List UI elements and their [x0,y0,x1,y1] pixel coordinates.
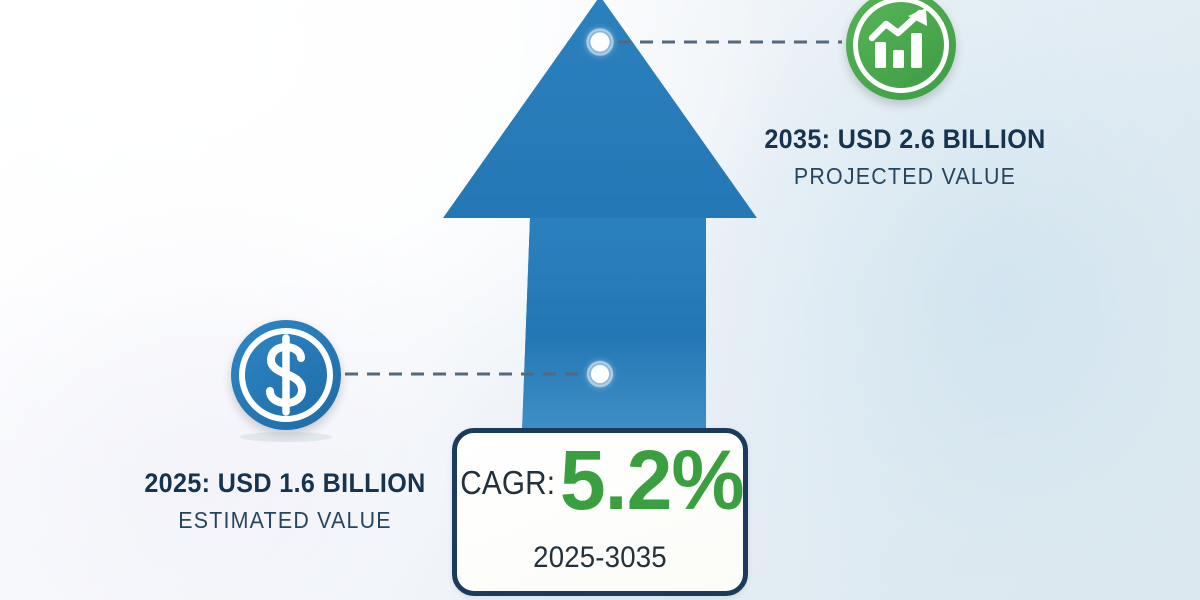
bottom-node-dot [588,362,612,386]
cagr-label: CAGR: [460,464,555,502]
cagr-row: CAGR: 5.2% [457,441,743,521]
projected-value-subtitle: PROJECTED VALUE [663,163,1147,190]
cagr-period: 2025-3035 [468,541,731,575]
infographic-canvas: 2035: USD 2.6 BILLION PROJECTED VALUE 20… [0,0,1200,600]
projected-value-title: 2035: USD 2.6 BILLION [663,124,1147,156]
cagr-card: CAGR: 5.2% 2025-3035 [452,428,748,596]
dollar-coin-icon[interactable] [231,320,341,430]
top-node-dot [588,30,613,55]
bar-chart-growth-icon[interactable] [846,0,956,100]
cagr-value: 5.2% [560,441,744,521]
coin-ground-shadow [240,432,332,442]
projected-value-block: 2035: USD 2.6 BILLION PROJECTED VALUE [645,124,1165,190]
